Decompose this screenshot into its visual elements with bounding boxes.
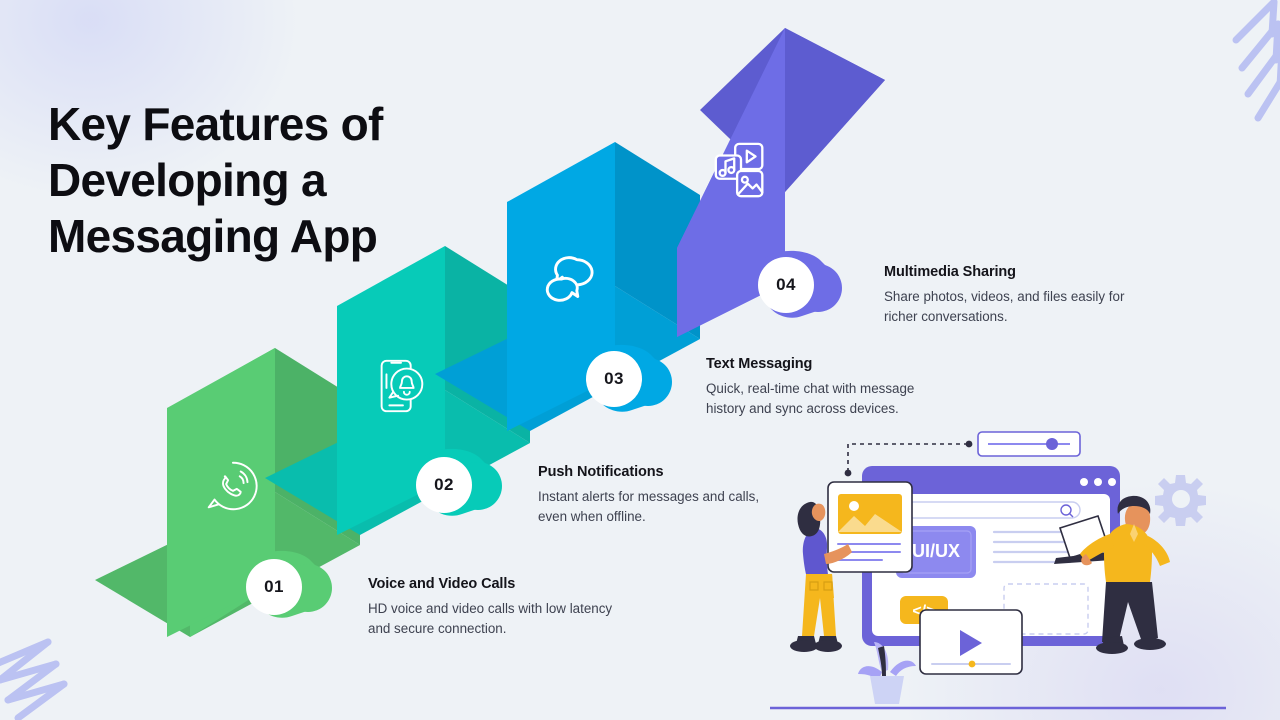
- step-04-side: [785, 28, 885, 192]
- step-text-01: Voice and Video Calls HD voice and video…: [368, 576, 668, 638]
- step-03-body: Quick, real-time chat with message histo…: [706, 379, 1006, 418]
- step-badge-02[interactable]: 02: [416, 457, 472, 513]
- gear-icon: [1155, 475, 1206, 526]
- step-badge-04[interactable]: 04: [758, 257, 814, 313]
- ui-ux-team-illustration: UI/UX </>: [770, 424, 1226, 720]
- step-text-04: Multimedia Sharing Share photos, videos,…: [884, 264, 1164, 326]
- infographic-canvas: Key Features of Developing a Messaging A…: [0, 0, 1280, 720]
- step-01-body: HD voice and video calls with low latenc…: [368, 599, 668, 638]
- browser-ui-ux-label: UI/UX: [912, 541, 960, 561]
- step-01-heading: Voice and Video Calls: [368, 576, 668, 592]
- step-badge-03[interactable]: 03: [586, 351, 642, 407]
- plant: [858, 642, 916, 704]
- step-text-03: Text Messaging Quick, real-time chat wit…: [706, 356, 1006, 418]
- step-badge-01[interactable]: 01: [246, 559, 302, 615]
- step-03-heading: Text Messaging: [706, 356, 1006, 372]
- video-player-card: [920, 610, 1022, 674]
- slider-control: [978, 432, 1080, 456]
- step-04-body: Share photos, videos, and files easily f…: [884, 287, 1164, 326]
- step-04-heading: Multimedia Sharing: [884, 264, 1164, 280]
